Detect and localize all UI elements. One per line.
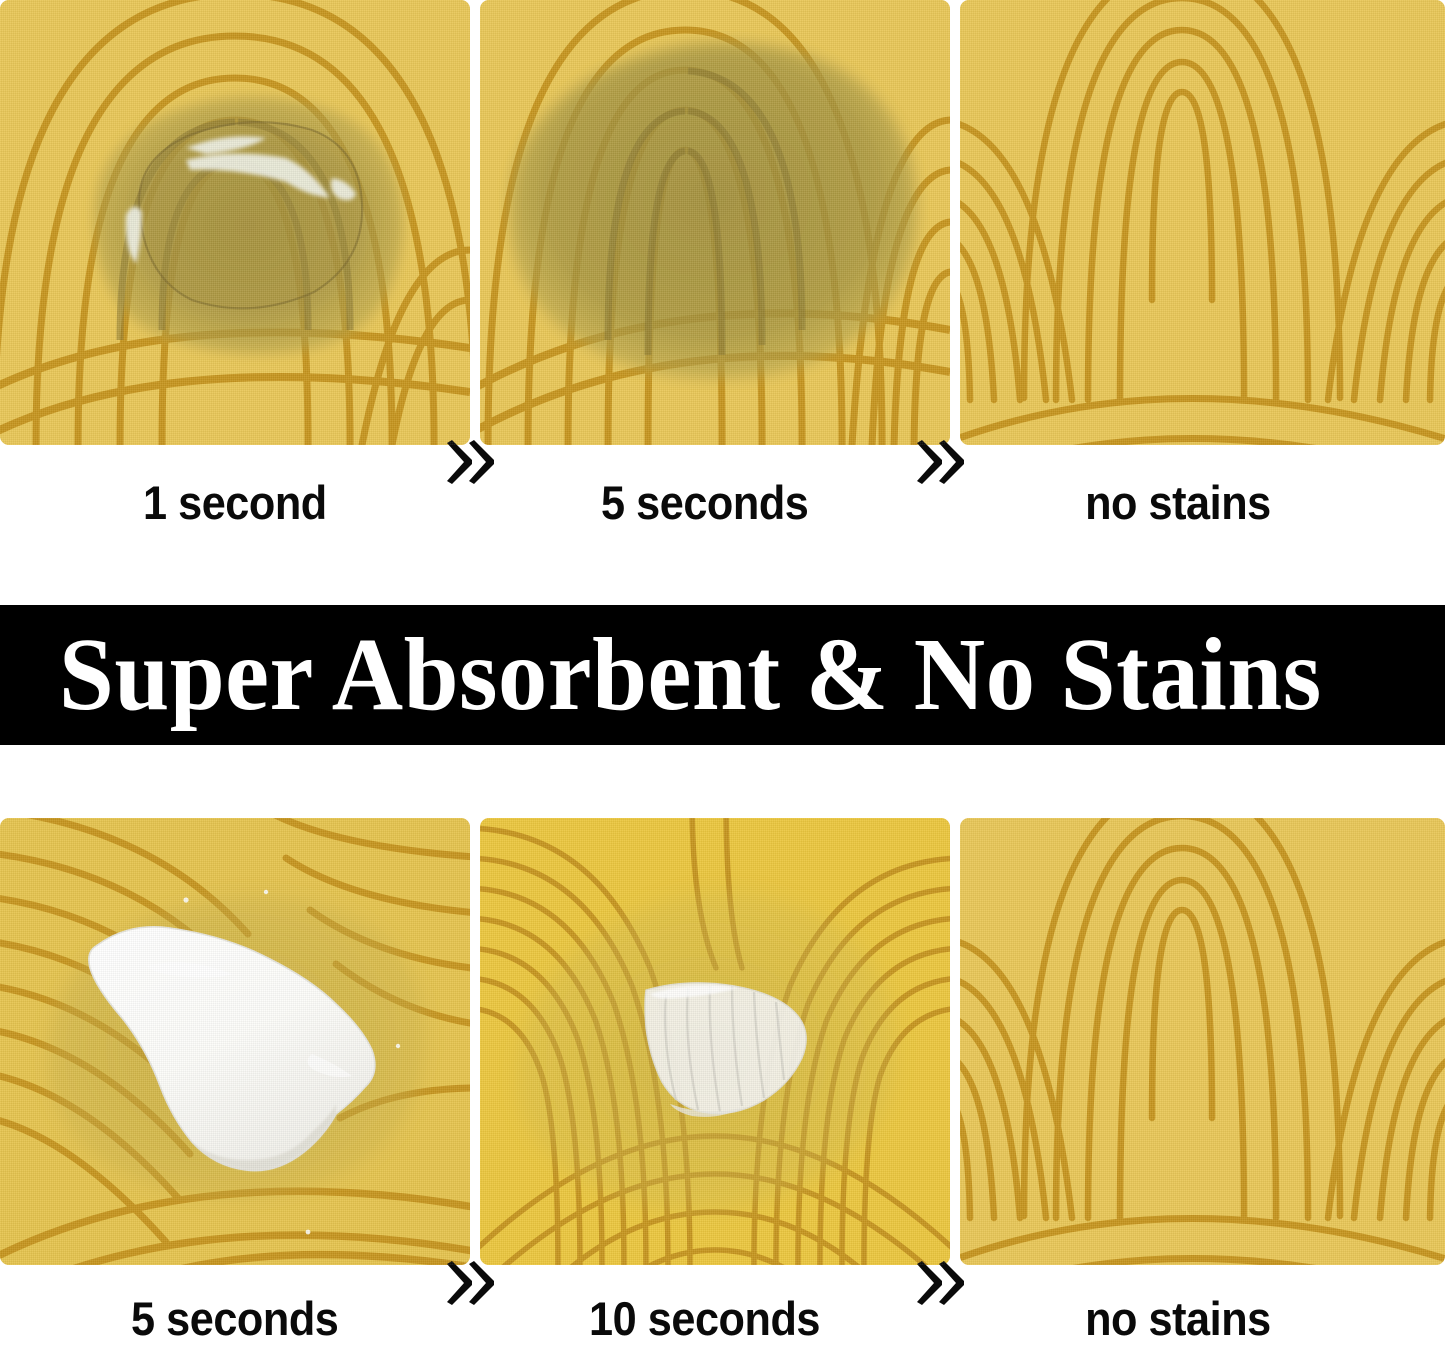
- caption-text: 10 seconds: [590, 1295, 821, 1342]
- mat-pattern-fan-art: [960, 818, 1445, 1265]
- mat-pattern-fan-art: [0, 818, 470, 1265]
- caption-water-no-stains: no stains: [940, 462, 1415, 542]
- caption-text: 5 seconds: [131, 1295, 338, 1342]
- bottom-photo-row: [0, 818, 1445, 1265]
- panel-water-no-stains: [960, 0, 1445, 445]
- top-photo-row: [0, 0, 1445, 445]
- panel-milk-10-seconds: [480, 818, 950, 1265]
- product-infographic: 1 second 5 seconds no stains: [0, 0, 1445, 1353]
- caption-text: 1 second: [143, 479, 327, 526]
- bottom-caption-row: 5 seconds 10 seconds no stains: [0, 1283, 1445, 1353]
- chevron-double-right-icon: [443, 438, 497, 486]
- caption-water-1-second: 1 second: [0, 462, 470, 542]
- caption-text: no stains: [1085, 479, 1271, 526]
- caption-water-5-seconds: 5 seconds: [470, 462, 940, 542]
- panel-milk-5-seconds: [0, 818, 470, 1265]
- chevron-double-right-icon: [443, 1259, 497, 1307]
- headline-text: Super Absorbent & No Stains: [0, 623, 1322, 727]
- caption-milk-no-stains: no stains: [940, 1283, 1415, 1353]
- chevron-double-right-icon: [913, 438, 967, 486]
- caption-text: no stains: [1085, 1295, 1271, 1342]
- mat-pattern-fan-art: [480, 0, 950, 445]
- top-caption-row: 1 second 5 seconds no stains: [0, 462, 1445, 542]
- panel-water-1-second: [0, 0, 470, 445]
- caption-milk-5-seconds: 5 seconds: [0, 1283, 470, 1353]
- panel-milk-no-stains: [960, 818, 1445, 1265]
- caption-text: 5 seconds: [601, 479, 808, 526]
- chevron-double-right-icon: [913, 1259, 967, 1307]
- mat-pattern-fan-art: [480, 818, 950, 1265]
- caption-milk-10-seconds: 10 seconds: [470, 1283, 940, 1353]
- headline-banner: Super Absorbent & No Stains: [0, 605, 1445, 745]
- mat-pattern-fan-art: [0, 0, 470, 445]
- panel-water-5-seconds: [480, 0, 950, 445]
- mat-pattern-fan-art: [960, 0, 1445, 445]
